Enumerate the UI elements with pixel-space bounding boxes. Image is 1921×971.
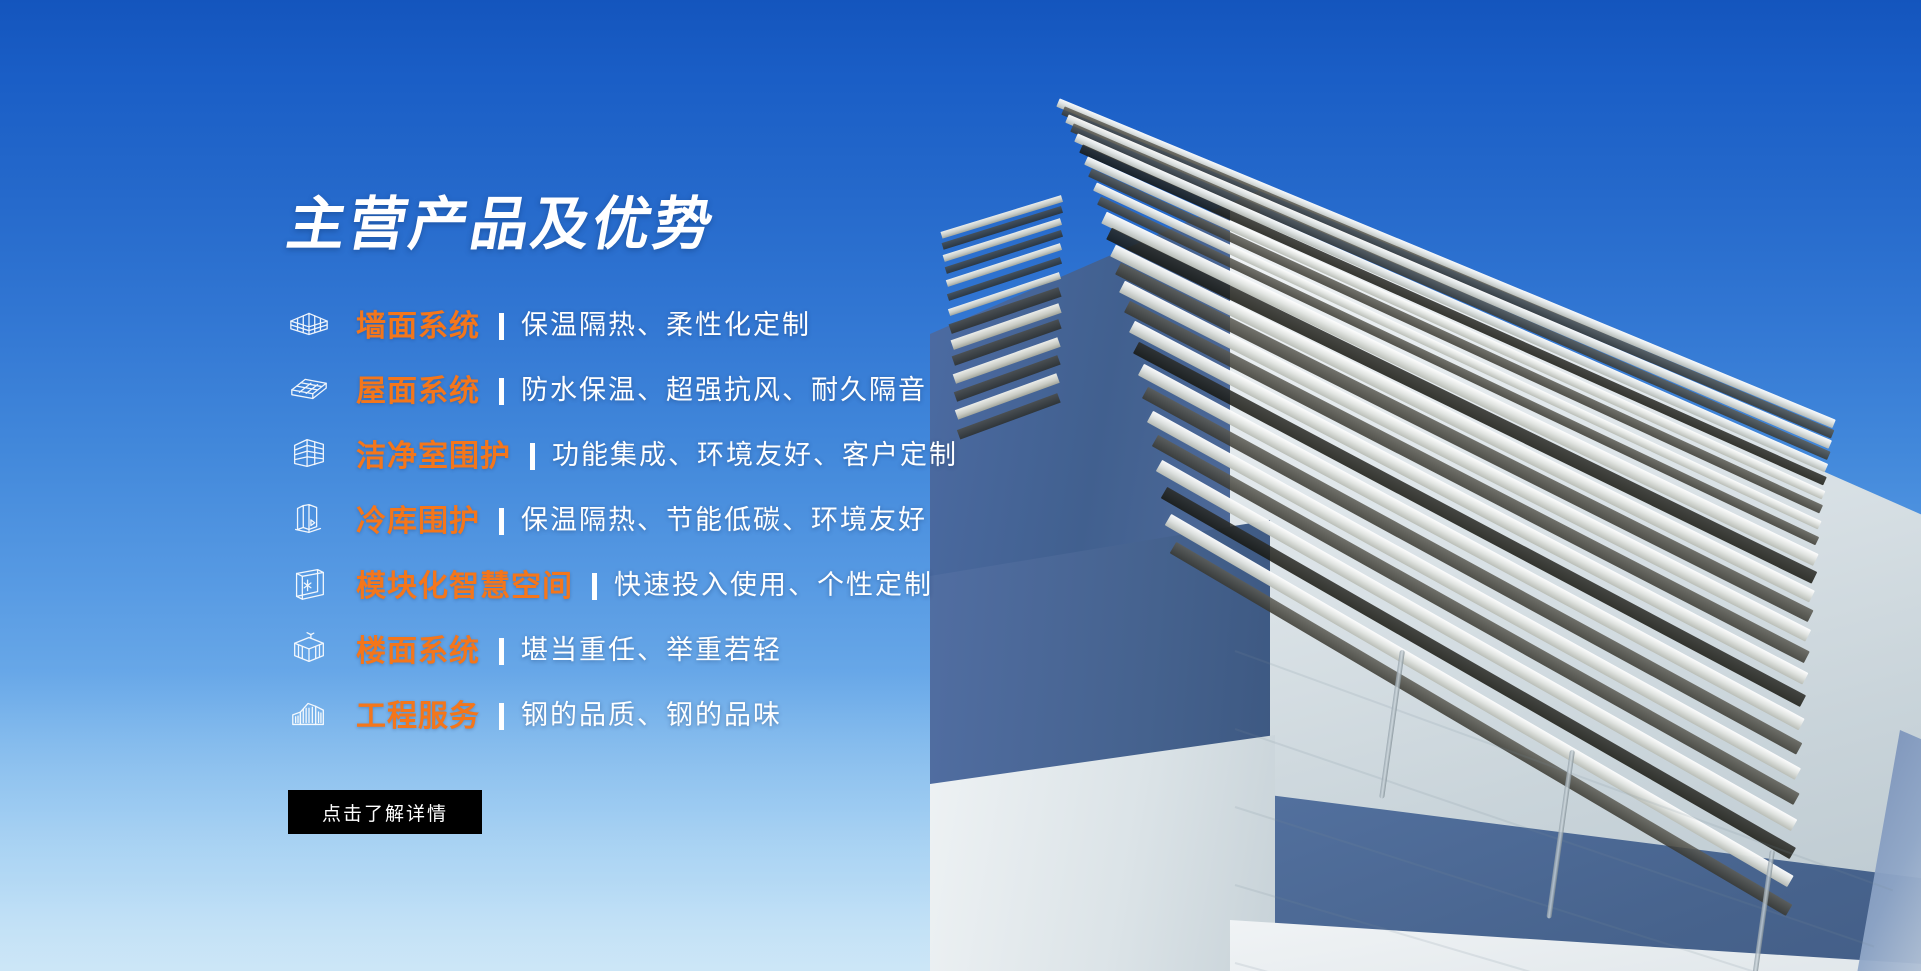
product-list: 墙面系统保温隔热、柔性化定制屋面系统防水保温、超强抗风、耐久隔音洁净室围护功能集… [288, 290, 1338, 745]
product-row[interactable]: 屋面系统防水保温、超强抗风、耐久隔音 [288, 355, 1338, 420]
product-separator [530, 443, 535, 470]
product-title: 楼面系统 [356, 626, 480, 670]
product-title: 工程服务 [356, 691, 480, 735]
product-title: 墙面系统 [356, 301, 480, 345]
engineering-service-icon [288, 692, 330, 734]
product-separator [499, 703, 504, 730]
product-advantage-banner: 主营产品及优势 墙面系统保温隔热、柔性化定制屋面系统防水保温、超强抗风、耐久隔音… [0, 0, 1921, 971]
product-description: 快速投入使用、个性定制 [614, 563, 933, 602]
modular-smart-space-icon [288, 562, 330, 604]
product-separator [499, 508, 504, 535]
product-description: 堪当重任、举重若轻 [521, 628, 782, 667]
product-description: 钢的品质、钢的品味 [521, 693, 782, 732]
learn-more-button[interactable]: 点击了解详情 [288, 790, 482, 834]
coldstorage-envelope-icon [288, 497, 330, 539]
product-separator [499, 378, 504, 405]
product-description: 防水保温、超强抗风、耐久隔音 [521, 368, 927, 407]
product-description: 功能集成、环境友好、客户定制 [552, 433, 958, 472]
product-row[interactable]: 冷库围护保温隔热、节能低碳、环境友好 [288, 485, 1338, 550]
product-row[interactable]: 洁净室围护功能集成、环境友好、客户定制 [288, 420, 1338, 485]
product-row[interactable]: 墙面系统保温隔热、柔性化定制 [288, 290, 1338, 355]
product-row[interactable]: 楼面系统堪当重任、举重若轻 [288, 615, 1338, 680]
product-title: 冷库围护 [356, 496, 480, 540]
product-title: 洁净室围护 [356, 431, 511, 475]
product-title: 屋面系统 [356, 366, 480, 410]
cleanroom-envelope-icon [288, 432, 330, 474]
product-separator [592, 573, 597, 600]
product-description: 保温隔热、柔性化定制 [521, 303, 811, 342]
roof-system-icon [288, 367, 330, 409]
product-row[interactable]: 模块化智慧空间快速投入使用、个性定制 [288, 550, 1338, 615]
page-title: 主营产品及优势 [283, 196, 1343, 254]
product-row[interactable]: 工程服务钢的品质、钢的品味 [288, 680, 1338, 745]
wall-system-icon [288, 302, 330, 344]
product-separator [499, 313, 504, 340]
product-title: 模块化智慧空间 [356, 561, 573, 605]
product-description: 保温隔热、节能低碳、环境友好 [521, 498, 927, 537]
banner-content: 主营产品及优势 墙面系统保温隔热、柔性化定制屋面系统防水保温、超强抗风、耐久隔音… [288, 196, 1338, 834]
product-separator [499, 638, 504, 665]
floor-system-icon [288, 627, 330, 669]
